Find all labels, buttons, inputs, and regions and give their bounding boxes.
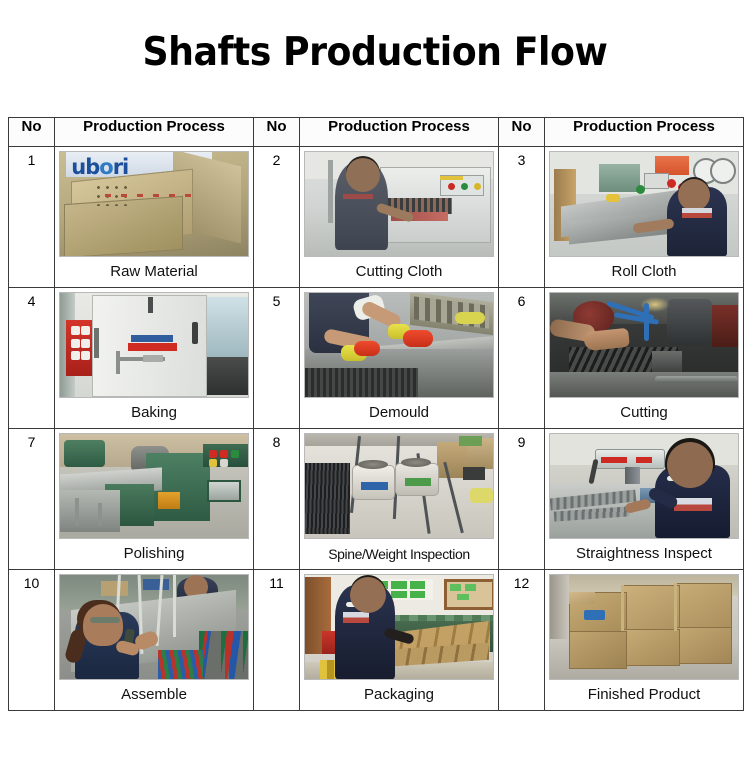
photo-frame-9 [549,433,739,539]
table-body: 1 ubori [9,147,744,711]
step-cell-5[interactable]: Demould [300,288,499,429]
photo-roll-cloth [550,152,738,256]
step-label-2: Cutting Cloth [300,257,498,287]
table-row: 10 [9,570,744,711]
photo-demould [305,293,493,397]
photo-frame-7 [59,433,249,539]
step-number-9: 9 [499,429,545,570]
step-number-8: 8 [254,429,300,570]
photo-frame-8 [304,433,494,539]
photo-raw-material: ubori [60,152,248,256]
step-cell-6[interactable]: Cutting [545,288,744,429]
step-label-6: Cutting [545,398,743,428]
page-title-container: Shafts Production Flow [0,30,750,76]
photo-assemble [60,575,248,679]
table-row: 1 ubori [9,147,744,288]
photo-frame-5 [304,292,494,398]
step-number-2: 2 [254,147,300,288]
table-header: No Production Process No Production Proc… [9,118,744,147]
photo-polishing [60,434,248,538]
step-number-10: 10 [9,570,55,711]
step-label-11: Packaging [300,680,498,710]
step-label-4: Baking [55,398,253,428]
step-cell-12[interactable]: Finished Product [545,570,744,711]
step-cell-7[interactable]: Polishing [55,429,254,570]
step-label-1: Raw Material [55,257,253,287]
step-cell-1[interactable]: ubori Raw Material [55,147,254,288]
header-no-3: No [499,118,545,147]
photo-cutting [550,293,738,397]
production-flow-page: Shafts Production Flow No Production Pro… [0,0,750,772]
step-cell-2[interactable]: Cutting Cloth [300,147,499,288]
header-process-2: Production Process [300,118,499,147]
step-label-12: Finished Product [545,680,743,710]
step-cell-3[interactable]: Roll Cloth [545,147,744,288]
step-label-7: Polishing [55,539,253,569]
step-cell-4[interactable]: Baking [55,288,254,429]
step-label-3: Roll Cloth [545,257,743,287]
header-process-3: Production Process [545,118,744,147]
step-cell-10[interactable]: Assemble [55,570,254,711]
header-no-2: No [254,118,300,147]
photo-spine-weight-inspection [305,434,493,538]
header-process-1: Production Process [55,118,254,147]
photo-frame-6 [549,292,739,398]
step-number-1: 1 [9,147,55,288]
photo-frame-2 [304,151,494,257]
step-label-9: Straightness Inspect [545,539,743,569]
step-number-5: 5 [254,288,300,429]
step-number-3: 3 [499,147,545,288]
step-label-8: Spine/Weight Inspection [300,539,498,569]
table-row: 4 [9,288,744,429]
step-number-4: 4 [9,288,55,429]
step-cell-11[interactable]: Packaging [300,570,499,711]
step-label-5: Demould [300,398,498,428]
step-label-10: Assemble [55,680,253,710]
table-row: 7 [9,429,744,570]
step-number-6: 6 [499,288,545,429]
step-number-12: 12 [499,570,545,711]
step-number-7: 7 [9,429,55,570]
page-title: Shafts Production Flow [143,30,608,76]
production-flow-table: No Production Process No Production Proc… [8,117,744,711]
photo-straightness-inspect [550,434,738,538]
photo-packaging [305,575,493,679]
photo-frame-1: ubori [59,151,249,257]
step-cell-8[interactable]: Spine/Weight Inspection [300,429,499,570]
photo-frame-12 [549,574,739,680]
header-row: No Production Process No Production Proc… [9,118,744,147]
photo-finished-product [550,575,738,679]
photo-cutting-cloth [305,152,493,256]
photo-frame-10 [59,574,249,680]
photo-baking [60,293,248,397]
header-no-1: No [9,118,55,147]
step-cell-9[interactable]: Straightness Inspect [545,429,744,570]
step-number-11: 11 [254,570,300,711]
photo-frame-11 [304,574,494,680]
photo-frame-3 [549,151,739,257]
photo-frame-4 [59,292,249,398]
